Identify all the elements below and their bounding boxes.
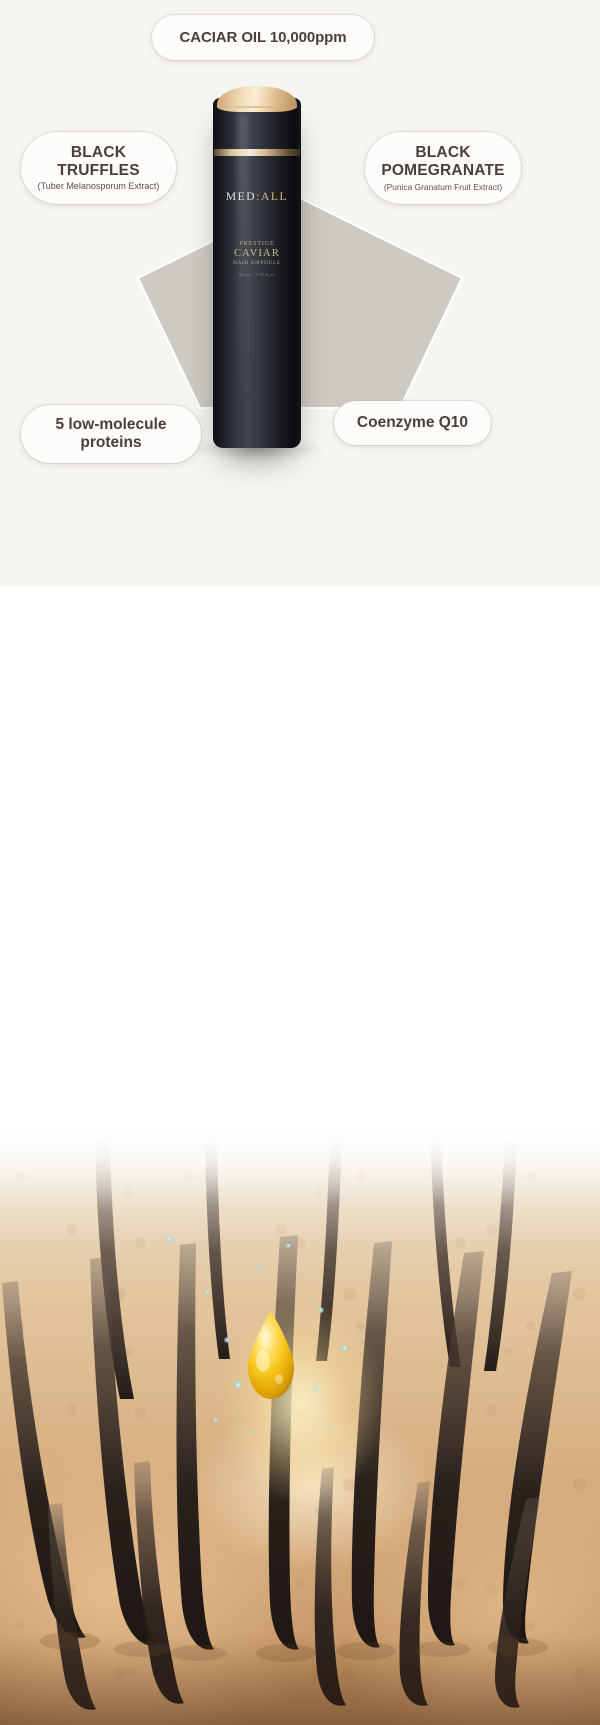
- sparkle-particle: [205, 1289, 210, 1294]
- bottle-gold-band: [214, 149, 300, 156]
- bottle-gold-cap: [217, 86, 297, 112]
- bottle-label-text: PRESTIGE CAVIAR HAIR AMPOULE 80 ml / 2.7…: [213, 241, 301, 277]
- bottle-label-line-2: CAVIAR: [213, 248, 301, 260]
- pill-low-molecule-proteins-title: 5 low-molecule proteins: [55, 416, 166, 452]
- sparkle-particle: [224, 1337, 230, 1343]
- sparkle-particle: [341, 1345, 348, 1352]
- brand-suffix: ALL: [261, 191, 288, 203]
- brand-prefix: MED: [226, 191, 256, 203]
- pill-coenzyme-q10-title: Coenzyme Q10: [357, 414, 468, 432]
- sparkle-particle: [318, 1307, 324, 1313]
- pill-black-truffles-subtitle: (Tuber Melanosporum Extract): [38, 182, 160, 192]
- bottle-label-line-3: HAIR AMPOULE: [213, 260, 301, 266]
- pill-coenzyme-q10: Coenzyme Q10: [334, 401, 491, 445]
- pill-low-molecule-proteins: 5 low-molecule proteins: [21, 405, 201, 463]
- oil-droplet-icon: [238, 1309, 304, 1401]
- sparkle-particle: [327, 1427, 331, 1431]
- bottle-label-line-4: 80 ml / 2.70 fl.oz: [213, 272, 301, 277]
- scalp-bottom-fade: [0, 1635, 600, 1725]
- pill-black-pomegranate-subtitle: (Punica Granatum Fruit Extract): [384, 183, 502, 192]
- bottle-neck-line: [213, 106, 301, 108]
- scalp-photo-section: [0, 1131, 600, 1725]
- sparkle-particle: [313, 1387, 318, 1392]
- ingredients-section: MED:ALL PRESTIGE CAVIAR HAIR AMPOULE 80 …: [0, 0, 600, 586]
- scalp-top-fade: [0, 1131, 600, 1251]
- product-detail-page: MED:ALL PRESTIGE CAVIAR HAIR AMPOULE 80 …: [0, 0, 600, 1725]
- pill-black-pomegranate-title: BLACK POMEGRANATE: [381, 144, 504, 180]
- sparkle-particle: [213, 1417, 218, 1422]
- pill-caviar-oil-title: CACIAR OIL 10,000ppm: [180, 29, 347, 47]
- sparkle-particle: [249, 1431, 253, 1435]
- pill-black-pomegranate: BLACK POMEGRANATE (Punica Granatum Fruit…: [365, 132, 521, 204]
- pill-caviar-oil: CACIAR OIL 10,000ppm: [152, 15, 374, 60]
- pill-black-truffles: BLACK TRUFFLES (Tuber Melanosporum Extra…: [21, 132, 176, 204]
- bottle-label-line-1: PRESTIGE: [213, 241, 301, 248]
- bottle-brand-name: MED:ALL: [213, 191, 301, 203]
- sparkle-particle: [234, 1381, 242, 1389]
- sparkle-particle: [258, 1263, 262, 1267]
- pill-black-truffles-title: BLACK TRUFFLES: [57, 144, 140, 180]
- product-bottle: MED:ALL PRESTIGE CAVIAR HAIR AMPOULE 80 …: [213, 86, 301, 448]
- point-2-section: #point 2 Optimized for Scalp Application…: [0, 586, 600, 1132]
